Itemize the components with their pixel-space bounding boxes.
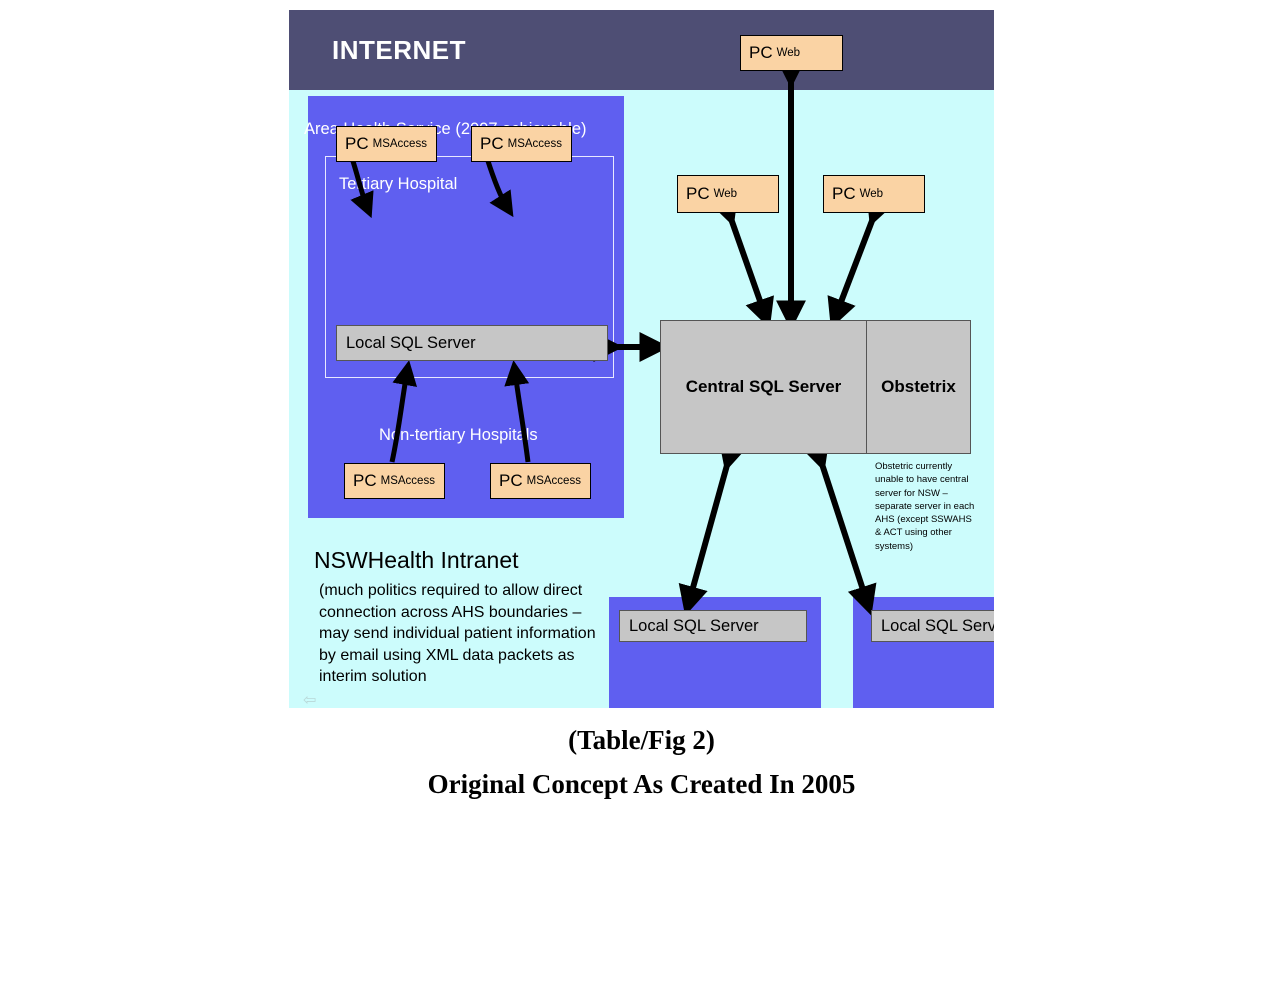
- nswhealth-intranet-note: (much politics required to allow direct …: [319, 580, 609, 688]
- pc-msaccess-tertiary-1[interactable]: PC MSAccess: [336, 126, 437, 162]
- page-root: INTERNET Area Health Service (2007 achie…: [0, 0, 1279, 998]
- pc-msaccess-nontertiary-2[interactable]: PC MSAccess: [490, 463, 591, 499]
- server-obstetrix[interactable]: Obstetrix: [867, 321, 970, 453]
- figure-caption: (Table/Fig 2) Original Concept As Create…: [289, 718, 994, 806]
- pc-sublabel: MSAccess: [373, 138, 427, 150]
- pc-web-internet[interactable]: PC Web: [740, 35, 843, 71]
- pc-web-left[interactable]: PC Web: [677, 175, 779, 213]
- pc-msaccess-tertiary-2[interactable]: PC MSAccess: [471, 126, 572, 162]
- left-arrow-icon: ⇦: [303, 690, 316, 708]
- server-local-sql-tertiary[interactable]: Local SQL Server: [336, 325, 608, 361]
- pc-label: PC: [353, 471, 377, 491]
- pc-label: PC: [345, 134, 369, 154]
- server-label: Local SQL Server: [346, 334, 476, 353]
- obstetrix-note: Obstetric currently unable to have centr…: [875, 460, 975, 553]
- pc-label: PC: [749, 43, 773, 63]
- pc-sublabel: Web: [777, 47, 800, 59]
- server-local-sql-remote-1[interactable]: Local SQL Server: [619, 610, 807, 642]
- server-local-sql-remote-2[interactable]: Local SQL Server: [871, 610, 994, 642]
- non-tertiary-hospitals-title: Non-tertiary Hospitals: [379, 426, 538, 445]
- pc-label: PC: [499, 471, 523, 491]
- pc-sublabel: MSAccess: [508, 138, 562, 150]
- pc-sublabel: Web: [860, 188, 883, 200]
- caption-line-1: (Table/Fig 2): [289, 718, 994, 762]
- nswhealth-intranet-title: NSWHealth Intranet: [314, 547, 519, 574]
- pc-web-right[interactable]: PC Web: [823, 175, 925, 213]
- central-server-group[interactable]: Central SQL Server Obstetrix: [660, 320, 971, 454]
- server-central-sql[interactable]: Central SQL Server: [661, 321, 867, 453]
- server-label: Local SQL Server: [629, 617, 759, 636]
- pc-msaccess-nontertiary-1[interactable]: PC MSAccess: [344, 463, 445, 499]
- pc-label: PC: [480, 134, 504, 154]
- pc-label: PC: [686, 184, 710, 204]
- pc-label: PC: [832, 184, 856, 204]
- tertiary-hospital-title: Tertiary Hospital: [339, 175, 457, 194]
- caption-line-2: Original Concept As Created In 2005: [289, 762, 994, 806]
- architecture-diagram: INTERNET Area Health Service (2007 achie…: [289, 10, 994, 708]
- pc-sublabel: Web: [714, 188, 737, 200]
- server-label: Local SQL Server: [881, 617, 994, 636]
- pc-sublabel: MSAccess: [381, 475, 435, 487]
- pc-sublabel: MSAccess: [527, 475, 581, 487]
- internet-label: INTERNET: [332, 35, 466, 66]
